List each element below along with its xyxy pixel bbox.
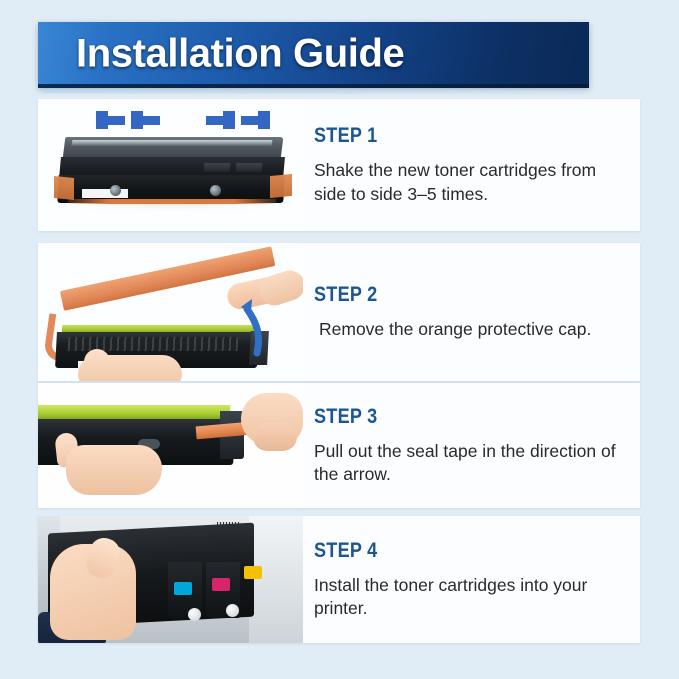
step-1-text: STEP 1 Shake the new toner cartridges fr… bbox=[314, 99, 626, 231]
step-card: STEP 1 Shake the new toner cartridges fr… bbox=[38, 99, 640, 231]
page-title: Installation Guide bbox=[76, 32, 404, 77]
step-3-illustration bbox=[38, 383, 303, 508]
step-3-text: STEP 3 Pull out the seal tape in the dir… bbox=[314, 383, 626, 508]
step-2-illustration bbox=[38, 243, 303, 381]
step-description: Remove the orange protective cap. bbox=[314, 318, 626, 341]
curved-arrow-up-icon bbox=[231, 299, 277, 359]
step-description: Shake the new toner cartridges from side… bbox=[314, 159, 626, 205]
step-2-text: STEP 2 Remove the orange protective cap. bbox=[314, 243, 626, 381]
step-1-illustration bbox=[38, 99, 303, 231]
shake-arrows-group bbox=[38, 109, 303, 135]
hand-graphic bbox=[66, 445, 162, 495]
magenta-cartridge-marker bbox=[212, 578, 230, 591]
step-card: STEP 3 Pull out the seal tape in the dir… bbox=[38, 383, 640, 508]
hand-graphic bbox=[253, 423, 297, 451]
step-card: STEP 2 Remove the orange protective cap. bbox=[38, 243, 640, 381]
step-4-illustration bbox=[38, 516, 303, 643]
step-label: STEP 1 bbox=[314, 124, 582, 148]
yellow-cartridge-marker bbox=[244, 566, 262, 579]
step-description: Pull out the seal tape in the direction … bbox=[314, 440, 626, 486]
step-4-text: STEP 4 Install the toner cartridges into… bbox=[314, 516, 626, 643]
installation-guide-page: Installation Guide bbox=[0, 0, 679, 679]
step-description: Install the toner cartridges into your p… bbox=[314, 574, 626, 620]
step-label: STEP 3 bbox=[314, 405, 582, 429]
step-label: STEP 2 bbox=[314, 283, 582, 307]
header-banner: Installation Guide bbox=[38, 22, 589, 88]
header-banner-background: Installation Guide bbox=[38, 22, 589, 88]
cyan-cartridge-marker bbox=[174, 582, 192, 595]
header-underline bbox=[44, 90, 589, 93]
toner-cartridge-graphic bbox=[54, 137, 290, 209]
step-card: STEP 4 Install the toner cartridges into… bbox=[38, 516, 640, 643]
hand-graphic bbox=[78, 355, 182, 381]
step-label: STEP 4 bbox=[314, 539, 582, 563]
